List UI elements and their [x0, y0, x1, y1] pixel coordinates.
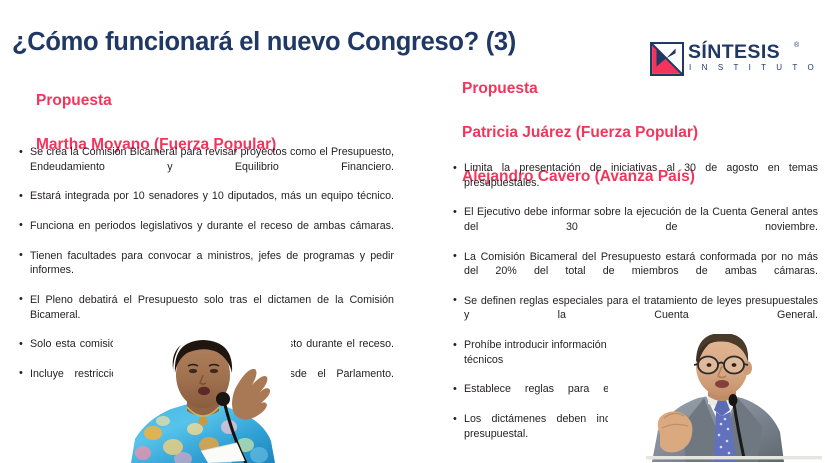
sintesis-logo: SÍNTESIS ® I N S T I T U T O — [650, 41, 812, 81]
list-item: Tienen facultades para convocar a minist… — [18, 249, 396, 293]
list-item: Se definen reglas especiales para el tra… — [452, 294, 820, 338]
right-heading-line-2: Patricia Juárez (Fuerza Popular) — [462, 122, 825, 144]
logo-subtitle: I N S T I T U T O — [689, 63, 818, 72]
list-item: Limita la presentación de iniciativas al… — [452, 161, 820, 205]
slide-header: ¿Cómo funcionará el nuevo Congreso? (3) … — [0, 20, 825, 70]
page-title: ¿Cómo funcionará el nuevo Congreso? (3) — [12, 20, 652, 64]
list-item: Funciona en periodos legislativos y dura… — [18, 219, 396, 248]
logo-wordmark: SÍNTESIS — [688, 42, 780, 62]
left-heading-block: Propuesta Martha Moyano (Fuerza Popular) — [18, 90, 396, 134]
list-item: Se crea la Comisión Bicameral para revis… — [18, 145, 396, 189]
list-item: La Comisión Bicameral del Presupuesto es… — [452, 250, 820, 294]
right-heading-block: Propuesta Patricia Juárez (Fuerza Popula… — [452, 78, 820, 144]
registered-mark: ® — [794, 42, 799, 50]
slide-root: ¿Cómo funcionará el nuevo Congreso? (3) … — [0, 0, 825, 462]
right-heading-line-1: Propuesta — [462, 78, 825, 100]
list-item: El Pleno debatirá el Presupuesto solo tr… — [18, 293, 396, 337]
photo-alejandro-cavero — [608, 334, 822, 462]
sintesis-hourglass-logo-icon — [650, 42, 684, 76]
list-item: Estará integrada por 10 senadores y 10 d… — [18, 189, 396, 218]
sintesis-logo-text: SÍNTESIS ® I N S T I T U T O — [688, 41, 812, 77]
list-item: El Ejecutivo debe informar sobre la ejec… — [452, 205, 820, 249]
left-heading-line-1: Propuesta — [36, 90, 414, 112]
photo-martha-moyano — [113, 333, 291, 463]
